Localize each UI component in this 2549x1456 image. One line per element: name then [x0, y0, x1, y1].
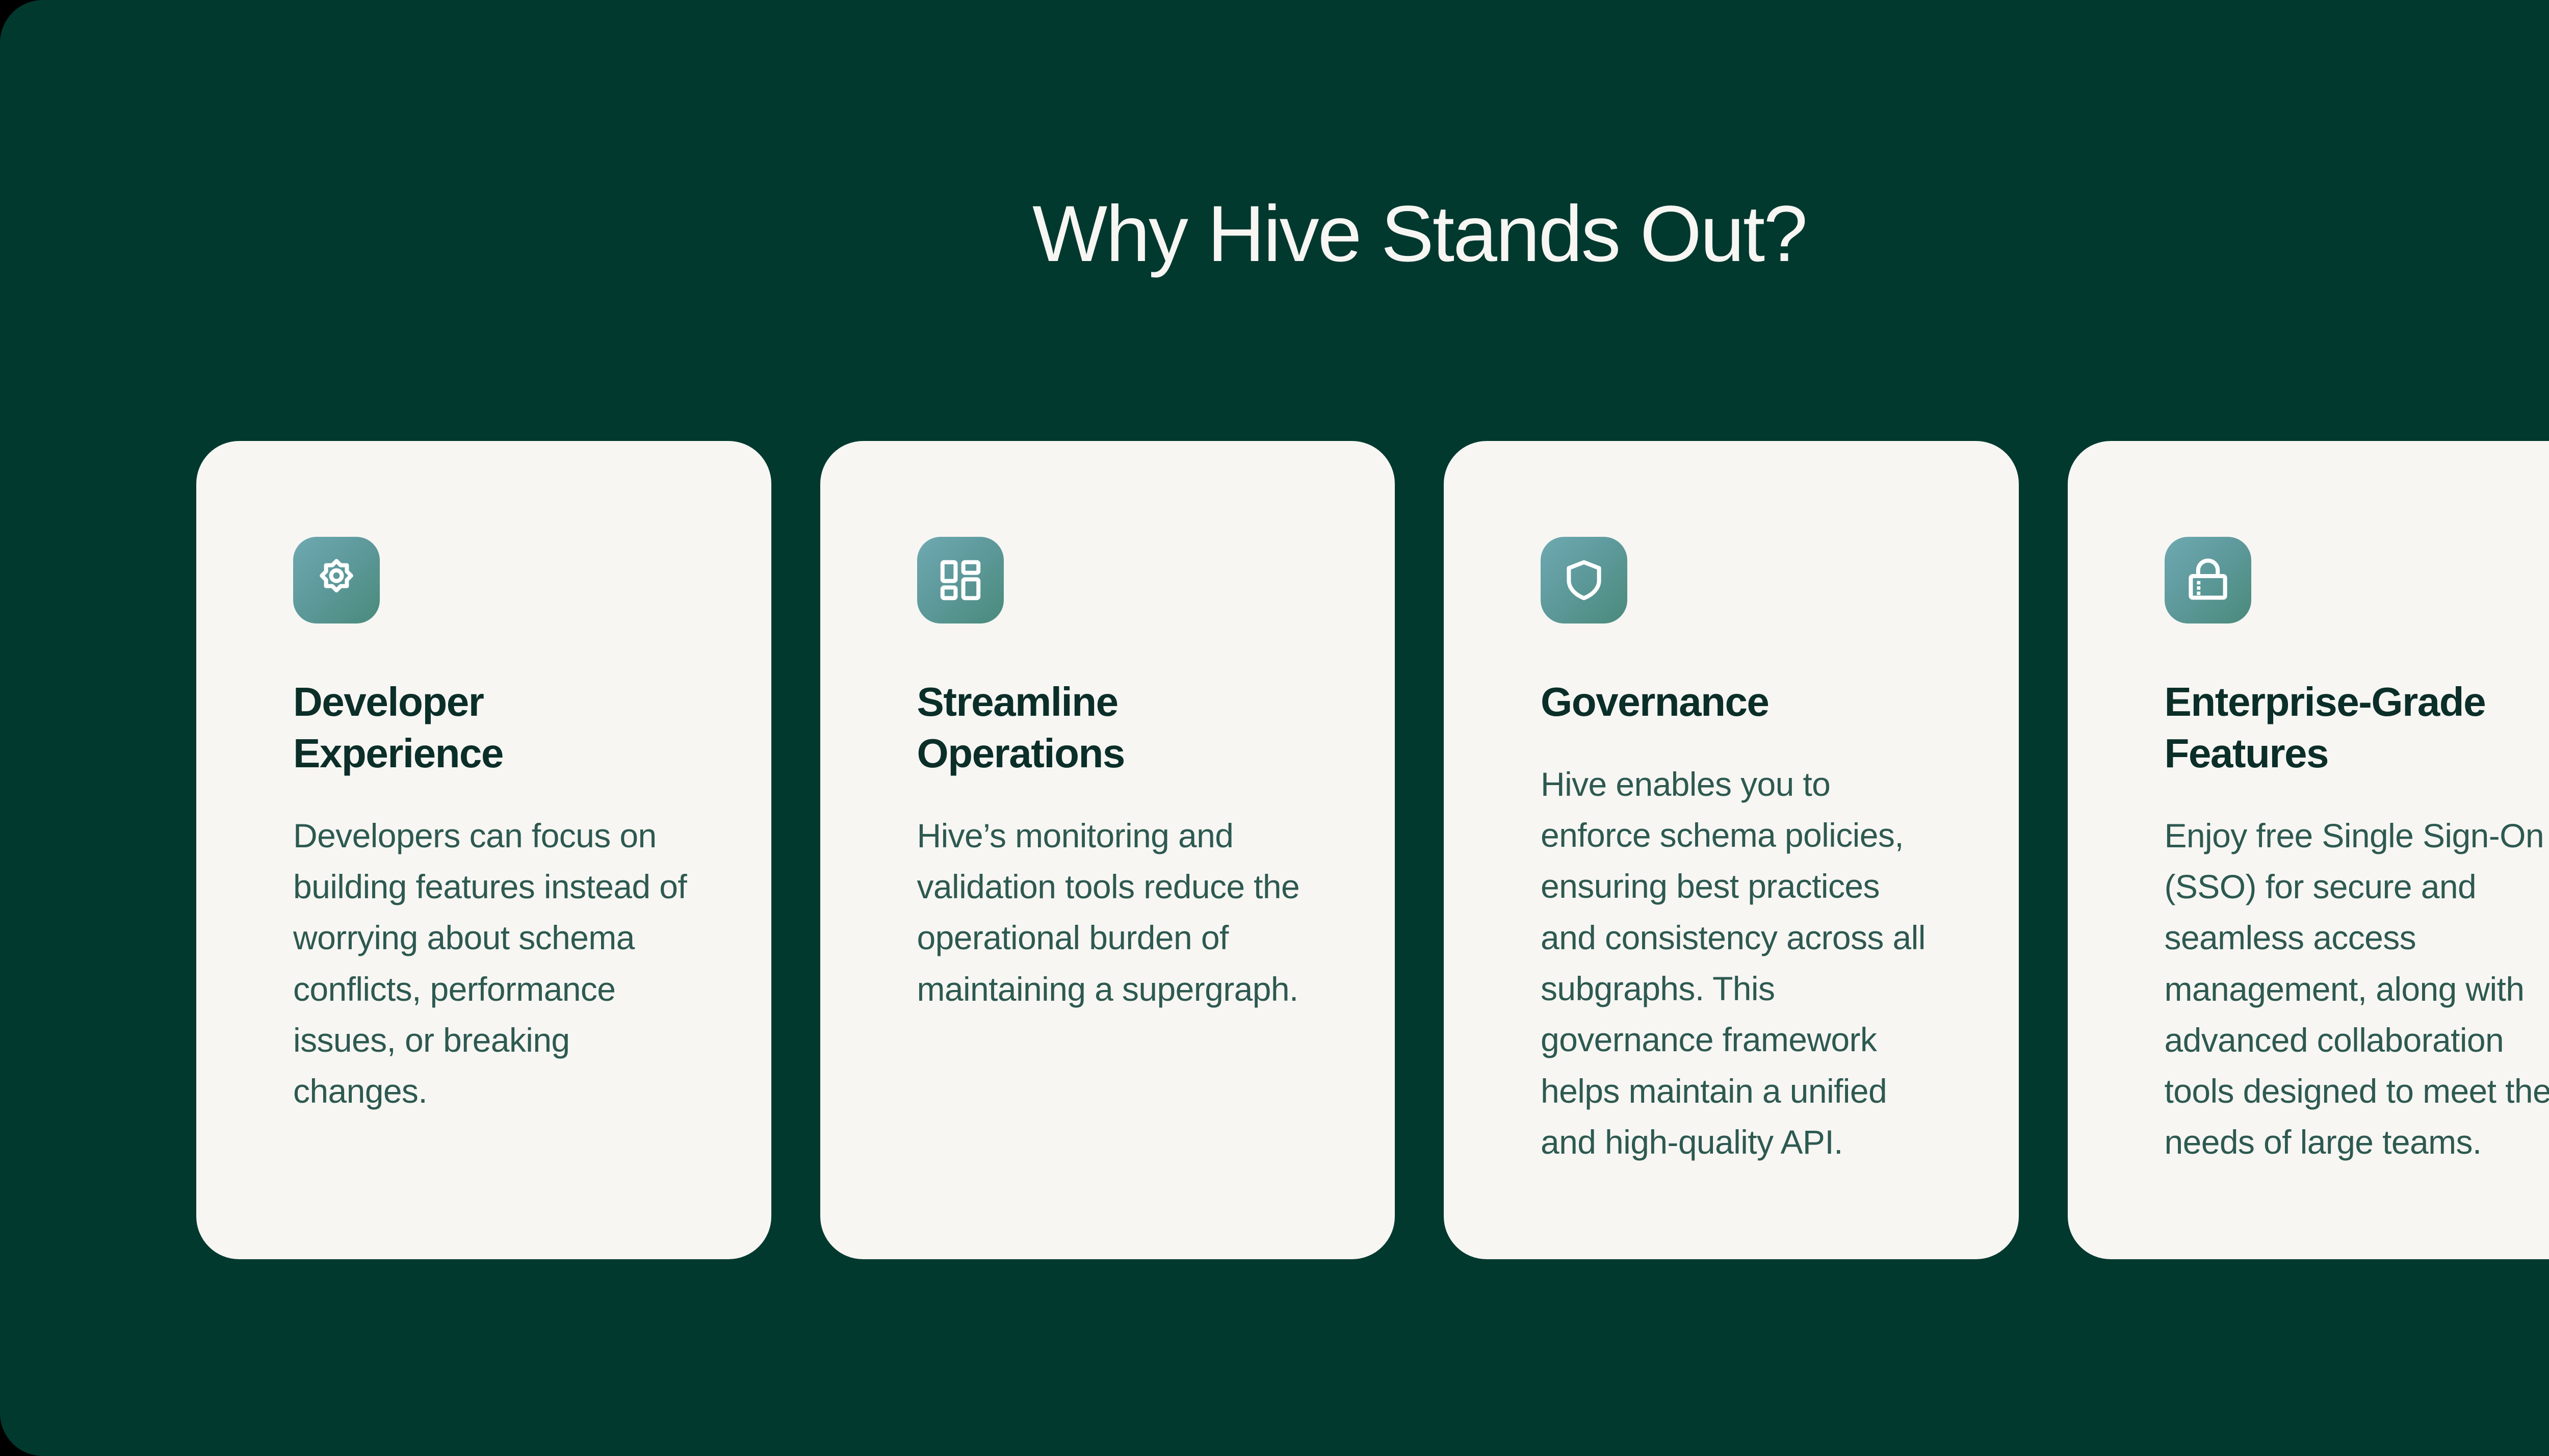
shield-icon	[1541, 537, 1627, 623]
card-body: Developers can focus on building feature…	[293, 810, 701, 1117]
card-title: Developer Experience	[293, 677, 609, 779]
card-title: Streamline Operations	[917, 677, 1243, 779]
card-title: Enterprise-Grade Features	[2165, 677, 2542, 779]
feature-card[interactable]: Streamline Operations Hive’s monitoring …	[820, 441, 1395, 1259]
card-body: Hive enables you to enforce schema polic…	[1541, 759, 1943, 1168]
feature-card[interactable]: Developer Experience Developers can focu…	[196, 441, 771, 1259]
lock-icon	[2165, 537, 2251, 623]
feature-card[interactable]: Enterprise-Grade Features Enjoy free Sin…	[2068, 441, 2549, 1259]
card-body: Hive’s monitoring and validation tools r…	[917, 810, 1335, 1015]
page-title: Why Hive Stands Out?	[0, 189, 2549, 280]
settings-gear-icon	[293, 537, 380, 623]
page-root: Why Hive Stands Out? Developer Experienc…	[0, 0, 2549, 1456]
dashboard-layout-icon	[917, 537, 1004, 623]
feature-card-list: Developer Experience Developers can focu…	[196, 441, 2549, 1259]
card-body: Enjoy free Single Sign-On (SSO) for secu…	[2165, 810, 2549, 1168]
feature-card[interactable]: Governance Hive enables you to enforce s…	[1444, 441, 2019, 1259]
card-title: Governance	[1541, 677, 1959, 728]
